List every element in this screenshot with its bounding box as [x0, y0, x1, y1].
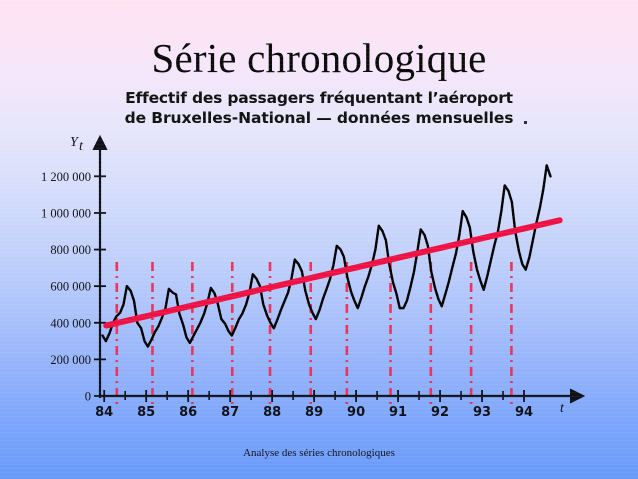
y-axis-label-subscript: t [79, 139, 84, 154]
x-tick-label: 93 [473, 405, 491, 420]
series-line-passengers [103, 165, 551, 346]
y-tick-label: 600 000 [50, 280, 91, 294]
x-tick-label: 87 [221, 405, 239, 420]
x-axis-ticks: 8485868788899091929394 [95, 390, 533, 420]
x-tick-label: 90 [347, 405, 365, 420]
timeseries-chart: 0200 000400 000600 000800 0001 000 0001 … [0, 0, 638, 479]
x-tick-label: 89 [305, 405, 323, 420]
x-tick-label: 88 [263, 405, 281, 420]
y-tick-label: 400 000 [50, 316, 91, 330]
slide-canvas: Série chronologique Effectif des passage… [0, 0, 638, 479]
y-tick-label: 1 200 000 [41, 170, 91, 184]
x-tick-label: 91 [389, 405, 407, 420]
x-tick-label: 86 [179, 405, 197, 420]
y-axis-ticks: 0200 000400 000600 000800 0001 000 0001 … [41, 170, 106, 404]
x-axis-label: t [560, 401, 565, 416]
x-tick-label: 92 [431, 405, 449, 420]
x-tick-label: 85 [137, 405, 155, 420]
vertical-year-markers [117, 262, 512, 406]
slide-footer: Analyse des séries chronologiques [0, 447, 638, 459]
y-tick-label: 1 000 000 [41, 206, 91, 220]
y-tick-label: 200 000 [50, 353, 91, 367]
trend-line [106, 220, 559, 325]
y-tick-label: 800 000 [50, 243, 91, 257]
x-tick-label: 94 [515, 405, 533, 420]
x-tick-label: 84 [95, 405, 113, 420]
y-tick-label: 0 [85, 390, 91, 404]
